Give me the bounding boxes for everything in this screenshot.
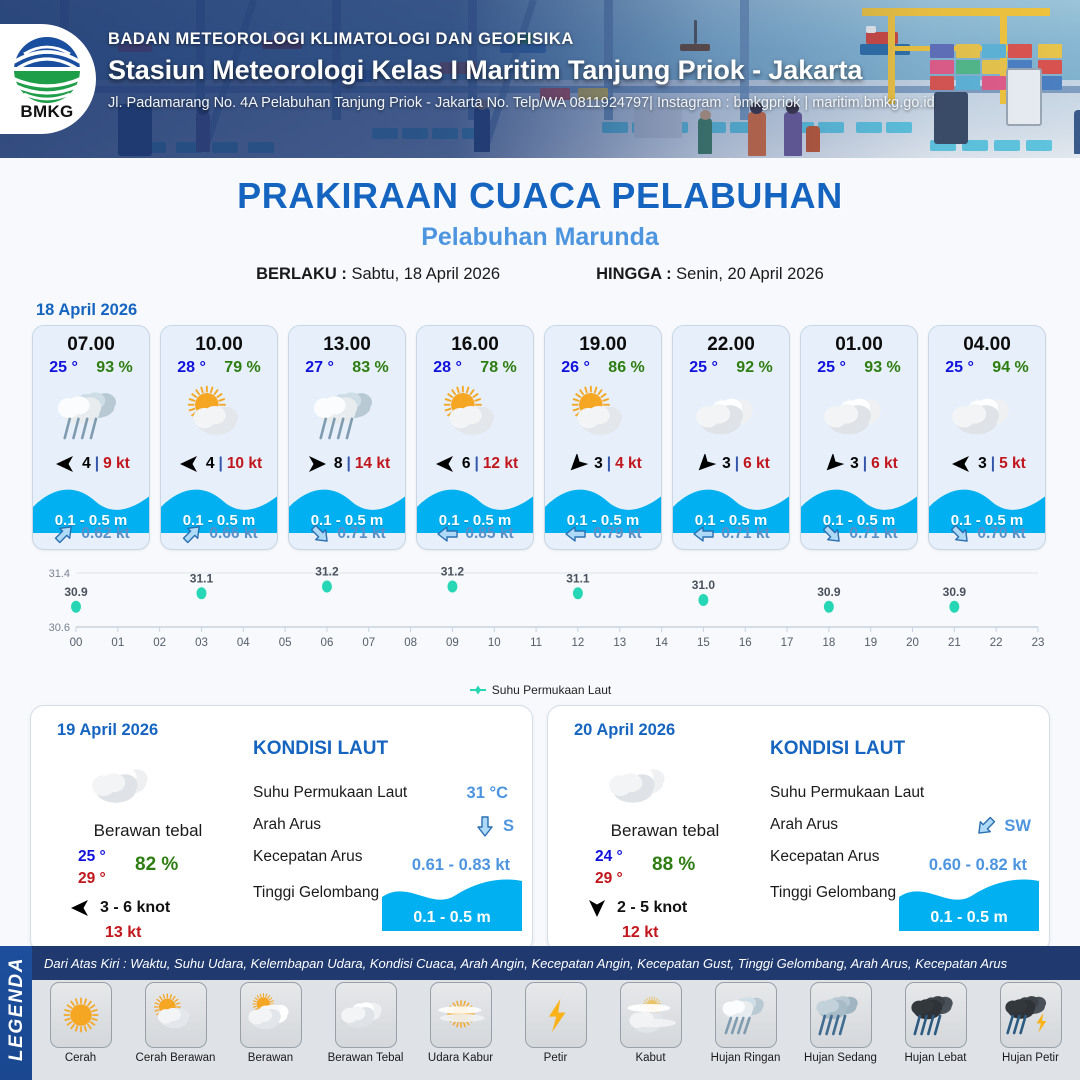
weather-icon-cerah-berawan — [565, 383, 641, 447]
legend-item: Berawan Tebal — [321, 982, 410, 1064]
forecast-wind-direction: 3 — [978, 455, 987, 473]
forecast-current-row: 0.71 kt — [673, 522, 789, 546]
forecast-time: 07.00 — [33, 326, 149, 358]
sea-row-value-current-dir: S — [503, 817, 514, 836]
wind-separator: | — [735, 455, 739, 473]
weather-icon-cerah — [54, 990, 108, 1040]
forecast-humidity: 86 % — [608, 359, 644, 377]
sea-condition-title: KONDISI LAUT — [770, 738, 905, 760]
forecast-temp-humidity: 25 ° 94 % — [929, 358, 1045, 379]
forecast-wind-row: 3 | 6 kt — [801, 451, 917, 481]
header-contact-line: Jl. Padamarang No. 4A Pelabuhan Tanjung … — [108, 95, 935, 111]
forecast-time: 16.00 — [417, 326, 533, 358]
forecast-weather-icon — [33, 379, 149, 451]
forecast-wind-direction: 3 — [594, 455, 603, 473]
current-direction-arrow-icon — [948, 522, 972, 546]
svg-text:30.6: 30.6 — [49, 622, 70, 634]
forecast-humidity: 83 % — [352, 359, 388, 377]
svg-text:03: 03 — [195, 637, 208, 649]
valid-to-value: Senin, 20 April 2026 — [676, 265, 824, 283]
daily-wind-range: 2 - 5 knot — [617, 899, 687, 917]
forecast-card[interactable]: 07.00 25 ° 93 % 4 | 9 kt 0.1 - 0.5 m — [32, 325, 150, 550]
daily-temp-max: 29 ° — [78, 870, 106, 888]
forecast-temp-humidity: 28 ° 78 % — [417, 358, 533, 379]
legend-item: Hujan Lebat — [891, 982, 980, 1064]
sea-condition-title: KONDISI LAUT — [253, 738, 388, 760]
forecast-wind-row: 6 | 12 kt — [417, 451, 533, 481]
forecast-wind-row: 4 | 9 kt — [33, 451, 149, 481]
sea-row-label-wave: Tinggi Gelombang — [253, 884, 379, 902]
forecast-temperature: 26 ° — [561, 359, 590, 377]
svg-text:19: 19 — [864, 637, 877, 649]
sea-row-value-wave: 0.1 - 0.5 m — [899, 909, 1039, 927]
current-direction-arrow-icon — [52, 522, 76, 546]
forecast-temperature: 28 ° — [433, 359, 462, 377]
legend-sidebar-label: LEGENDA — [6, 950, 28, 1068]
forecast-current-speed: 0.70 kt — [977, 525, 1025, 543]
legend-icon-box — [240, 982, 302, 1048]
legend-section: LEGENDA Dari Atas Kiri : Waktu, Suhu Uda… — [0, 946, 1080, 1080]
forecast-card[interactable]: 10.00 28 ° 79 % 4 | 10 kt 0.1 - 0.5 m — [160, 325, 278, 550]
forecast-wind-row: 8 | 14 kt — [289, 451, 405, 481]
forecast-weather-icon — [801, 379, 917, 451]
legend-icon-box — [620, 982, 682, 1048]
svg-text:23: 23 — [1032, 637, 1045, 649]
svg-text:15: 15 — [697, 637, 710, 649]
sea-row-label-current-speed: Kecepatan Arus — [253, 848, 362, 866]
forecast-current-speed: 0.66 kt — [209, 525, 257, 543]
forecast-time: 13.00 — [289, 326, 405, 358]
daily-date: 20 April 2026 — [574, 721, 675, 740]
svg-text:31.0: 31.0 — [692, 578, 716, 592]
daily-wind-range: 3 - 6 knot — [100, 899, 170, 917]
svg-text:01: 01 — [111, 637, 124, 649]
legend-icon-box — [50, 982, 112, 1048]
legend-item-label: Cerah Berawan — [131, 1052, 220, 1064]
valid-from: BERLAKU : Sabtu, 18 April 2026 — [256, 265, 500, 284]
svg-text:18: 18 — [822, 637, 835, 649]
sea-row-label-current-speed: Kecepatan Arus — [770, 848, 879, 866]
legend-item: Berawan — [226, 982, 315, 1064]
sea-current-direction-group: SW — [974, 814, 1031, 838]
forecast-temperature: 25 ° — [49, 359, 78, 377]
legend-sidebar: LEGENDA — [0, 946, 32, 1080]
forecast-time: 10.00 — [161, 326, 277, 358]
forecast-current-speed: 0.62 kt — [81, 525, 129, 543]
forecast-temperature: 27 ° — [305, 359, 334, 377]
svg-text:30.9: 30.9 — [64, 585, 88, 599]
sea-current-direction-group: S — [473, 814, 514, 838]
current-direction-arrow-icon — [473, 814, 497, 838]
forecast-temp-humidity: 26 ° 86 % — [545, 358, 661, 379]
weather-icon-berawan-tebal — [339, 990, 393, 1040]
forecast-current-speed: 0.71 kt — [721, 525, 769, 543]
forecast-temp-humidity: 28 ° 79 % — [161, 358, 277, 379]
forecast-wind-row: 3 | 6 kt — [673, 451, 789, 481]
daily-wind: 3 - 6 knot — [67, 898, 170, 918]
weather-icon-hujan-lebat — [909, 990, 963, 1040]
forecast-current-speed: 0.71 kt — [337, 525, 385, 543]
forecast-humidity: 93 % — [96, 359, 132, 377]
legend-item: Petir — [511, 982, 600, 1064]
svg-text:30.9: 30.9 — [817, 585, 841, 599]
wind-direction-arrow-icon — [67, 898, 93, 918]
forecast-weather-icon — [545, 379, 661, 451]
forecast-gust: 9 kt — [103, 455, 130, 473]
legend-item-label: Hujan Ringan — [701, 1052, 790, 1064]
forecast-wind-direction: 3 — [722, 455, 731, 473]
forecast-current-speed: 0.85 kt — [465, 525, 513, 543]
svg-text:31.2: 31.2 — [315, 565, 339, 579]
header-org-name: BADAN METEOROLOGI KLIMATOLOGI DAN GEOFIS… — [108, 30, 935, 49]
valid-to-label: HINGGA : — [596, 265, 671, 283]
svg-text:17: 17 — [781, 637, 794, 649]
bmkg-logo-text: BMKG — [6, 102, 88, 122]
daily-weather-icon — [89, 754, 163, 817]
valid-to: HINGGA : Senin, 20 April 2026 — [596, 265, 824, 284]
legend-item-label: Petir — [511, 1052, 600, 1064]
legend-item: Hujan Ringan — [701, 982, 790, 1064]
daily-gust: 12 kt — [622, 924, 658, 942]
wind-direction-arrow-icon — [948, 454, 974, 474]
forecast-current-row: 0.71 kt — [289, 522, 405, 546]
forecast-wind-row: 3 | 5 kt — [929, 451, 1045, 481]
weather-icon-petir — [529, 990, 583, 1040]
forecast-humidity: 92 % — [736, 359, 772, 377]
legend-item: Kabut — [606, 982, 695, 1064]
forecast-card[interactable]: 19.00 26 ° 86 % 3 | 4 kt 0.1 - 0.5 m — [544, 325, 662, 550]
forecast-time: 22.00 — [673, 326, 789, 358]
legend-icon-box — [335, 982, 397, 1048]
wind-separator: | — [991, 455, 995, 473]
sea-row-label-current-dir: Arah Arus — [770, 816, 838, 834]
header-station-name: Stasiun Meteorologi Kelas I Maritim Tanj… — [108, 55, 935, 86]
svg-text:13: 13 — [613, 637, 626, 649]
forecast-temp-humidity: 25 ° 92 % — [673, 358, 789, 379]
weather-icon-berawan-tebal — [821, 383, 897, 447]
forecast-weather-icon — [289, 379, 405, 451]
svg-text:31.4: 31.4 — [49, 568, 70, 580]
wind-direction-arrow-icon — [176, 454, 202, 474]
forecast-current-row: 0.62 kt — [33, 522, 149, 546]
svg-text:31.1: 31.1 — [566, 571, 590, 585]
legend-icon-box — [525, 982, 587, 1048]
bmkg-logo: BMKG — [0, 24, 96, 134]
sea-row-value-current-dir: SW — [1004, 817, 1031, 836]
forecast-current-row: 0.71 kt — [801, 522, 917, 546]
forecast-card[interactable]: 13.00 27 ° 83 % 8 | 14 kt 0.1 - 0.5 m — [288, 325, 406, 550]
weather-icon-cerah-berawan — [437, 383, 513, 447]
weather-icon-hujan-ringan — [53, 383, 129, 447]
svg-text:02: 02 — [153, 637, 166, 649]
daily-humidity: 82 % — [135, 854, 178, 876]
svg-text:30.9: 30.9 — [943, 585, 967, 599]
daily-date: 19 April 2026 — [57, 721, 158, 740]
forecast-card[interactable]: 16.00 28 ° 78 % 6 | 12 kt 0.1 - 0.5 m — [416, 325, 534, 550]
legend-item-label: Berawan — [226, 1052, 315, 1064]
weather-icon-berawan — [244, 990, 298, 1040]
valid-from-value: Sabtu, 18 April 2026 — [351, 265, 500, 283]
sea-row-label-current-dir: Arah Arus — [253, 816, 321, 834]
legend-item: Cerah — [36, 982, 125, 1064]
legend-description-bar: Dari Atas Kiri : Waktu, Suhu Udara, Kele… — [32, 946, 1080, 980]
daily-temperature-range: 24 ° 29 ° — [595, 848, 623, 888]
current-direction-arrow-icon — [564, 522, 588, 546]
weather-icon-udara-kabur — [434, 990, 488, 1040]
svg-text:09: 09 — [446, 637, 459, 649]
daily-temp-min: 25 ° — [78, 848, 106, 866]
daily-temp-max: 29 ° — [595, 870, 623, 888]
svg-text:21: 21 — [948, 637, 961, 649]
forecast-humidity: 79 % — [224, 359, 260, 377]
legend-icon-box — [145, 982, 207, 1048]
wind-direction-arrow-icon — [564, 454, 590, 474]
svg-text:08: 08 — [404, 637, 417, 649]
forecast-card-row: 07.00 25 ° 93 % 4 | 9 kt 0.1 - 0.5 m — [0, 325, 1080, 550]
forecast-wind-row: 4 | 10 kt — [161, 451, 277, 481]
legend-icon-box — [905, 982, 967, 1048]
forecast-temperature: 25 ° — [817, 359, 846, 377]
forecast-gust: 4 kt — [615, 455, 642, 473]
forecast-temp-humidity: 27 ° 83 % — [289, 358, 405, 379]
wind-separator: | — [474, 455, 478, 473]
daily-forecast-panel[interactable]: 19 April 2026 Berawan tebal 25 ° 29 ° 82… — [30, 705, 533, 953]
header-text-group: BADAN METEOROLOGI KLIMATOLOGI DAN GEOFIS… — [108, 30, 935, 111]
svg-text:07: 07 — [362, 637, 375, 649]
legend-item-row: Cerah Cerah Berawan Berawan Berawan Teba… — [36, 982, 1076, 1064]
legend-item-label: Hujan Sedang — [796, 1052, 885, 1064]
svg-text:06: 06 — [321, 637, 334, 649]
legend-item: Udara Kabur — [416, 982, 505, 1064]
forecast-wave-block: 0.1 - 0.5 m 0.62 kt — [33, 481, 149, 549]
forecast-gust: 6 kt — [743, 455, 770, 473]
svg-text:10: 10 — [488, 637, 501, 649]
sst-chart: 31.430.600010203040506070809101112131415… — [30, 561, 1050, 681]
wind-separator: | — [863, 455, 867, 473]
svg-text:12: 12 — [572, 637, 585, 649]
sea-row-value-current-speed: 0.61 - 0.83 kt — [412, 856, 510, 875]
forecast-weather-icon — [417, 379, 533, 451]
legend-item-label: Kabut — [606, 1052, 695, 1064]
current-direction-arrow-icon — [692, 522, 716, 546]
legend-item-label: Hujan Lebat — [891, 1052, 980, 1064]
sea-row-label-sst: Suhu Permukaan Laut — [770, 784, 924, 802]
wind-direction-arrow-icon — [432, 454, 458, 474]
weather-icon-hujan-petir — [1004, 990, 1058, 1040]
svg-text:04: 04 — [237, 637, 250, 649]
daily-forecast-panel[interactable]: 20 April 2026 Berawan tebal 24 ° 29 ° 88… — [547, 705, 1050, 953]
weather-icon-hujan-sedang — [814, 990, 868, 1040]
forecast-gust: 12 kt — [483, 455, 518, 473]
sea-row-label-sst: Suhu Permukaan Laut — [253, 784, 407, 802]
svg-text:20: 20 — [906, 637, 919, 649]
legend-item-label: Hujan Petir — [986, 1052, 1075, 1064]
forecast-wave-block: 0.1 - 0.5 m 0.71 kt — [289, 481, 405, 549]
legend-item-label: Cerah — [36, 1052, 125, 1064]
forecast-wave-block: 0.1 - 0.5 m 0.71 kt — [673, 481, 789, 549]
forecast-wave-block: 0.1 - 0.5 m 0.79 kt — [545, 481, 661, 549]
wind-direction-arrow-icon — [692, 454, 718, 474]
svg-text:31.1: 31.1 — [190, 571, 214, 585]
weather-icon-kabut — [624, 990, 678, 1040]
forecast-gust: 5 kt — [999, 455, 1026, 473]
sst-chart-legend: Suhu Permukaan Laut — [0, 683, 1080, 697]
legend-icon-box — [1000, 982, 1062, 1048]
sea-row-label-wave: Tinggi Gelombang — [770, 884, 896, 902]
daily-gust: 13 kt — [105, 924, 141, 942]
current-direction-arrow-icon — [974, 814, 998, 838]
sea-row-value-current-speed: 0.60 - 0.82 kt — [929, 856, 1027, 875]
legend-item: Cerah Berawan — [131, 982, 220, 1064]
forecast-card[interactable]: 22.00 25 ° 92 % 3 | 6 kt 0.1 - 0.5 m — [672, 325, 790, 550]
sst-chart-svg: 31.430.600010203040506070809101112131415… — [30, 561, 1050, 661]
forecast-wind-direction: 4 — [82, 455, 91, 473]
wind-separator: | — [346, 455, 350, 473]
legend-icon-box — [810, 982, 872, 1048]
forecast-time: 01.00 — [801, 326, 917, 358]
daily-wave-graphic: 0.1 - 0.5 m — [382, 875, 522, 936]
svg-text:22: 22 — [990, 637, 1003, 649]
sst-legend-label: Suhu Permukaan Laut — [492, 683, 611, 697]
daily-forecast-row: 19 April 2026 Berawan tebal 25 ° 29 ° 82… — [0, 697, 1080, 953]
forecast-time: 04.00 — [929, 326, 1045, 358]
svg-text:14: 14 — [655, 637, 668, 649]
legend-description: Dari Atas Kiri : Waktu, Suhu Udara, Kele… — [32, 956, 1007, 971]
wind-direction-arrow-icon — [52, 454, 78, 474]
weather-icon-berawan-tebal — [89, 754, 163, 812]
legend-icon-box — [715, 982, 777, 1048]
svg-text:00: 00 — [70, 637, 83, 649]
daily-condition: Berawan tebal — [565, 821, 765, 841]
forecast-wind-direction: 4 — [206, 455, 215, 473]
forecast-humidity: 94 % — [992, 359, 1028, 377]
forecast-temperature: 28 ° — [177, 359, 206, 377]
sea-row-value-wave: 0.1 - 0.5 m — [382, 909, 522, 927]
forecast-temp-humidity: 25 ° 93 % — [33, 358, 149, 379]
daily-wind: 2 - 5 knot — [584, 898, 687, 918]
forecast-wave-block: 0.1 - 0.5 m 0.66 kt — [161, 481, 277, 549]
daily-condition: Berawan tebal — [48, 821, 248, 841]
forecast-weather-icon — [929, 379, 1045, 451]
forecast-wind-direction: 6 — [462, 455, 471, 473]
daily-temp-min: 24 ° — [595, 848, 623, 866]
forecast-wave-block: 0.1 - 0.5 m 0.85 kt — [417, 481, 533, 549]
weather-icon-berawan-tebal — [949, 383, 1025, 447]
weather-icon-hujan-ringan — [309, 383, 385, 447]
forecast-wind-direction: 8 — [334, 455, 343, 473]
daily-wave-graphic: 0.1 - 0.5 m — [899, 875, 1039, 936]
forecast-current-row: 0.66 kt — [161, 522, 277, 546]
forecast-gust: 6 kt — [871, 455, 898, 473]
weather-icon-berawan-tebal — [693, 383, 769, 447]
daily-temperature-range: 25 ° 29 ° — [78, 848, 106, 888]
weather-icon-hujan-ringan — [719, 990, 773, 1040]
forecast-gust: 10 kt — [227, 455, 262, 473]
weather-icon-berawan-tebal — [606, 754, 680, 812]
forecast-current-speed: 0.79 kt — [593, 525, 641, 543]
current-direction-arrow-icon — [820, 522, 844, 546]
bmkg-emblem-icon — [8, 36, 86, 106]
svg-text:11: 11 — [530, 637, 542, 649]
page-title: PRAKIRAAN CUACA PELABUHAN — [0, 175, 1080, 217]
legend-item: Hujan Sedang — [796, 982, 885, 1064]
page-subtitle: Pelabuhan Marunda — [0, 223, 1080, 252]
forecast-temperature: 25 ° — [689, 359, 718, 377]
legend-item-label: Berawan Tebal — [321, 1052, 410, 1064]
wind-separator: | — [95, 455, 99, 473]
forecast-wave-block: 0.1 - 0.5 m 0.70 kt — [929, 481, 1045, 549]
legend-marker-icon — [469, 684, 487, 696]
current-direction-arrow-icon — [180, 522, 204, 546]
forecast-wind-row: 3 | 4 kt — [545, 451, 661, 481]
legend-item-label: Udara Kabur — [416, 1052, 505, 1064]
forecast-current-row: 0.70 kt — [929, 522, 1045, 546]
svg-text:16: 16 — [739, 637, 752, 649]
forecast-humidity: 78 % — [480, 359, 516, 377]
valid-from-label: BERLAKU : — [256, 265, 347, 283]
forecast-wave-block: 0.1 - 0.5 m 0.71 kt — [801, 481, 917, 549]
svg-text:31.2: 31.2 — [441, 565, 465, 579]
current-direction-arrow-icon — [436, 522, 460, 546]
forecast-card[interactable]: 01.00 25 ° 93 % 3 | 6 kt 0.1 - 0.5 m — [800, 325, 918, 550]
forecast-temp-humidity: 25 ° 93 % — [801, 358, 917, 379]
forecast-wind-direction: 3 — [850, 455, 859, 473]
current-direction-arrow-icon — [308, 522, 332, 546]
forecast-gust: 14 kt — [355, 455, 390, 473]
forecast-current-row: 0.85 kt — [417, 522, 533, 546]
legend-item: Hujan Petir — [986, 982, 1075, 1064]
forecast-weather-icon — [161, 379, 277, 451]
wind-direction-arrow-icon — [304, 454, 330, 474]
forecast-current-row: 0.79 kt — [545, 522, 661, 546]
wind-direction-arrow-icon — [820, 454, 846, 474]
forecast-humidity: 93 % — [864, 359, 900, 377]
forecast-card[interactable]: 04.00 25 ° 94 % 3 | 5 kt 0.1 - 0.5 m — [928, 325, 1046, 550]
validity-row: BERLAKU : Sabtu, 18 April 2026 HINGGA : … — [0, 265, 1080, 284]
wind-separator: | — [218, 455, 222, 473]
daily-humidity: 88 % — [652, 854, 695, 876]
daily-weather-icon — [606, 754, 680, 817]
forecast-time: 19.00 — [545, 326, 661, 358]
forecast-weather-icon — [673, 379, 789, 451]
sea-row-value-sst: 31 °C — [467, 784, 508, 803]
wind-direction-arrow-icon — [584, 898, 610, 918]
wind-separator: | — [607, 455, 611, 473]
legend-icon-box — [430, 982, 492, 1048]
forecast-temperature: 25 ° — [945, 359, 974, 377]
weather-icon-cerah-berawan — [149, 990, 203, 1040]
header-banner: BMKG BADAN METEOROLOGI KLIMATOLOGI DAN G… — [0, 0, 1080, 158]
forecast-current-speed: 0.71 kt — [849, 525, 897, 543]
weather-icon-cerah-berawan — [181, 383, 257, 447]
forecast-date-label: 18 April 2026 — [36, 301, 1080, 320]
page-title-block: PRAKIRAAN CUACA PELABUHAN Pelabuhan Maru… — [0, 175, 1080, 284]
svg-text:05: 05 — [279, 637, 292, 649]
